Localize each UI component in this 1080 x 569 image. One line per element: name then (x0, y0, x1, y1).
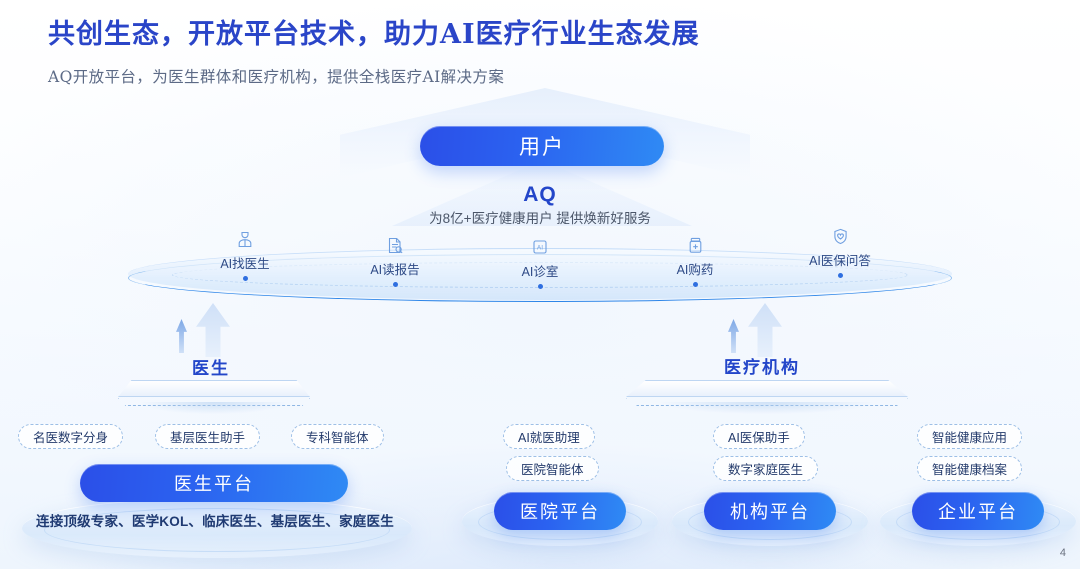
doctor-icon (190, 228, 300, 250)
tag-enterprise-0[interactable]: 智能健康应用 (917, 424, 1022, 449)
tag-institution-0[interactable]: AI医保助手 (713, 424, 805, 449)
capability-label: AI读报告 (340, 259, 450, 278)
plate-shadow (660, 402, 874, 414)
capability-label: AI诊室 (485, 261, 595, 280)
tag-hospital-1[interactable]: 医院智能体 (506, 456, 599, 481)
brand-name: AQ (0, 183, 1080, 207)
platform-button-doctor[interactable]: 医生平台 (80, 464, 348, 502)
capability-dot (838, 273, 843, 278)
shield-heart-icon (785, 225, 895, 247)
plate-institution (626, 380, 908, 406)
tag-doctor-0[interactable]: 名医数字分身 (18, 424, 123, 449)
upward-arrow-institution-large (748, 303, 782, 357)
capability-dot (693, 282, 698, 287)
capability-dot (538, 284, 543, 289)
platform-description-doctor: 连接顶级专家、医学KOL、临床医生、基层医生、家庭医生 (36, 510, 394, 530)
tag-doctor-1[interactable]: 基层医生助手 (155, 424, 260, 449)
plate-top-surface (626, 380, 908, 397)
capability-item-ai-buy-medicine[interactable]: AI购药 (640, 234, 750, 287)
tag-institution-1[interactable]: 数字家庭医生 (713, 456, 818, 481)
capability-dot (243, 276, 248, 281)
platform-button-institution[interactable]: 机构平台 (704, 492, 836, 530)
capability-dot (393, 282, 398, 287)
clinic-icon: AI (485, 236, 595, 258)
capability-label: AI医保问答 (785, 250, 895, 269)
brand-description: 为8亿+医疗健康用户 提供焕新好服务 (0, 207, 1080, 227)
capability-label: AI找医生 (190, 253, 300, 272)
svg-text:AI: AI (537, 245, 543, 252)
plate-top-surface (118, 380, 310, 397)
report-icon (340, 234, 450, 256)
page-title: 共创生态，开放平台技术，助力AI医疗行业生态发展 (48, 12, 700, 51)
plate-doctor (118, 380, 310, 406)
tag-doctor-2[interactable]: 专科智能体 (291, 424, 384, 449)
capability-label: AI购药 (640, 259, 750, 278)
capability-item-ai-clinic[interactable]: AI AI诊室 (485, 236, 595, 289)
slide-header: 共创生态，开放平台技术，助力AI医疗行业生态发展 AQ开放平台，为医生群体和医疗… (48, 12, 700, 87)
capability-item-ai-find-doctor[interactable]: AI找医生 (190, 228, 300, 281)
tier-label-doctor: 医生 (192, 354, 230, 379)
medicine-bottle-icon (640, 234, 750, 256)
page-number: 4 (1060, 547, 1066, 559)
upward-arrow-institution-small (728, 319, 739, 353)
user-pill-button[interactable]: 用户 (420, 126, 664, 166)
platform-button-hospital[interactable]: 医院平台 (494, 492, 626, 530)
capability-item-ai-read-report[interactable]: AI读报告 (340, 234, 450, 287)
tag-enterprise-1[interactable]: 智能健康档案 (917, 456, 1022, 481)
tag-hospital-0[interactable]: AI就医助理 (503, 424, 595, 449)
upward-arrow-doctor-large (196, 303, 230, 357)
page-subtitle: AQ开放平台，为医生群体和医疗机构，提供全栈医疗AI解决方案 (48, 65, 700, 87)
capability-item-ai-insurance-qa[interactable]: AI医保问答 (785, 225, 895, 278)
tier-label-institution: 医疗机构 (724, 353, 800, 378)
platform-button-enterprise[interactable]: 企业平台 (912, 492, 1044, 530)
plate-shadow (141, 402, 287, 414)
upward-arrow-doctor-small (176, 319, 187, 353)
